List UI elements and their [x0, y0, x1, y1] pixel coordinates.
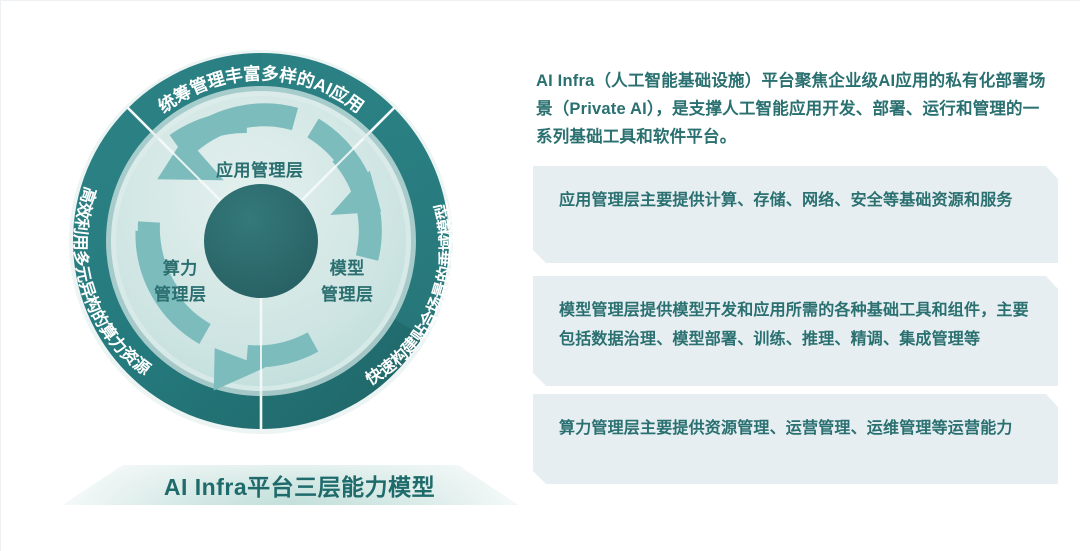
intro-paragraph: AI Infra（人工智能基础设施）平台聚焦企业级AI应用的私有化部署场景（Pr… [536, 67, 1046, 151]
card-model-management: 模型管理层提供模型开发和应用所需的各种基础工具和组件，主要包括数据治理、模型部署… [533, 276, 1058, 386]
diagram-title-text: AI Infra平台三层能力模型 [63, 463, 518, 507]
card-compute-management: 算力管理层主要提供资源管理、运营管理、运维管理等运营能力 [533, 394, 1058, 484]
layer-label-model-line2: 管理层 [321, 282, 374, 308]
layer-label-compute-line1: 算力 [154, 256, 207, 282]
layer-label-compute: 算力 管理层 [154, 256, 207, 308]
card-app-management: 应用管理层主要提供计算、存储、网络、安全等基础资源和服务 [533, 166, 1058, 263]
infographic-canvas: 统筹管理丰富多样的AI应用 高效利用多元异构的算力资源 快速构建贴合场景的垂域模… [0, 0, 1080, 551]
layer-label-compute-line2: 管理层 [154, 282, 207, 308]
layer-label-model-line1: 模型 [321, 256, 374, 282]
layer-label-model: 模型 管理层 [321, 256, 374, 308]
diagram-title-banner: AI Infra平台三层能力模型 [63, 463, 518, 507]
ring-diagram-svg: 统筹管理丰富多样的AI应用 高效利用多元异构的算力资源 快速构建贴合场景的垂域模… [51, 26, 471, 456]
core-label: AI Infra 平台 [1, 1, 521, 26]
core-circle [204, 184, 318, 298]
layer-label-app: 应用管理层 [216, 156, 304, 181]
text-column: AI Infra（人工智能基础设施）平台聚焦企业级AI应用的私有化部署场景（Pr… [533, 1, 1080, 551]
circular-diagram: 统筹管理丰富多样的AI应用 高效利用多元异构的算力资源 快速构建贴合场景的垂域模… [1, 1, 521, 551]
